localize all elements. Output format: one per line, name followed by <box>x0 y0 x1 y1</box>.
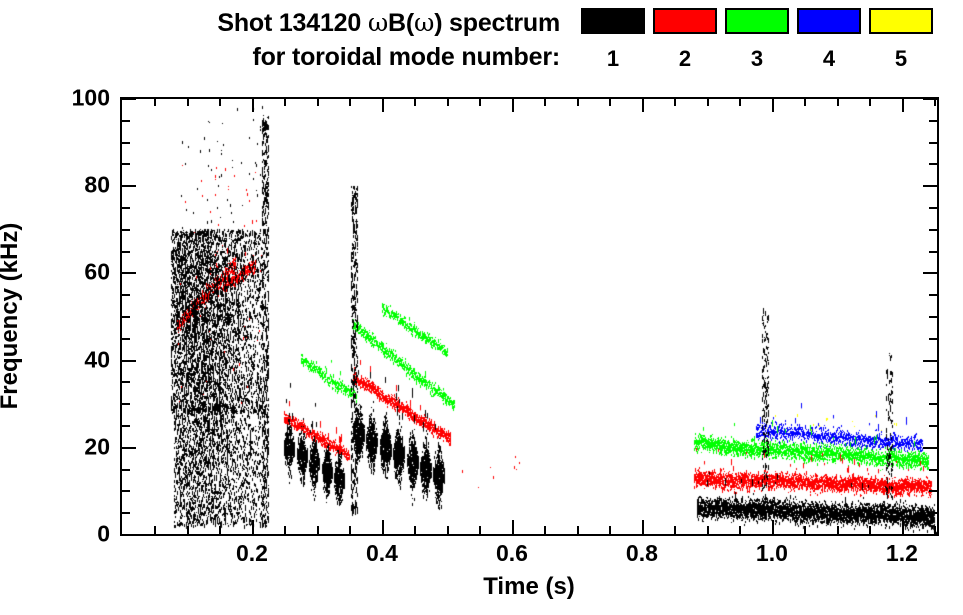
x-tick-minor <box>674 526 676 534</box>
x-tick-minor-top <box>577 98 579 106</box>
x-axis-title: Time (s) <box>483 573 575 601</box>
y-tick-major <box>122 534 136 536</box>
x-tick-minor <box>349 526 351 534</box>
x-tick-major <box>382 520 384 534</box>
top-frame-line <box>120 97 939 99</box>
x-tick-minor-top <box>479 98 481 106</box>
x-tick-minor-top <box>284 98 286 106</box>
x-tick-minor <box>739 526 741 534</box>
x-tick-minor-top <box>447 98 449 106</box>
omega-symbol-1: ω <box>368 8 388 37</box>
x-tick-major-top <box>382 98 384 112</box>
x-tick-minor <box>934 526 936 534</box>
y-tick-major-right <box>923 360 937 362</box>
y-tick-major-right <box>923 447 937 449</box>
x-tick-minor-top <box>154 98 156 106</box>
x-tick-minor-top <box>219 98 221 106</box>
y-tick-minor-right <box>929 316 937 318</box>
x-tick-major-top <box>252 98 254 112</box>
spectrogram-figure: Shot 134120 ωB(ω) spectrum for toroidal … <box>0 0 963 615</box>
spectrogram-canvas <box>122 98 937 534</box>
y-tick-major-right <box>923 185 937 187</box>
y-tick-label: 60 <box>30 259 110 286</box>
legend-swatch-mode-3 <box>725 8 789 34</box>
y-tick-label: 80 <box>30 172 110 199</box>
y-tick-minor <box>122 338 130 340</box>
y-tick-minor-right <box>929 207 937 209</box>
y-tick-major <box>122 185 136 187</box>
x-tick-minor-top <box>544 98 546 106</box>
y-tick-minor <box>122 425 130 427</box>
x-tick-minor-top <box>837 98 839 106</box>
y-tick-minor-right <box>929 490 937 492</box>
title-line-2: for toroidal mode number: <box>0 40 560 74</box>
title-line-1-prefix: Shot 134120 <box>217 9 367 37</box>
x-tick-label: 1.0 <box>756 540 788 567</box>
y-tick-minor <box>122 142 130 144</box>
x-tick-label: 0.4 <box>366 540 398 567</box>
x-tick-minor <box>187 526 189 534</box>
x-tick-minor-top <box>739 98 741 106</box>
y-tick-label: 0 <box>30 521 110 548</box>
omega-symbol-2: ω <box>414 8 434 37</box>
y-tick-major <box>122 447 136 449</box>
x-tick-minor <box>577 526 579 534</box>
x-tick-minor <box>609 526 611 534</box>
x-tick-major-top <box>902 98 904 112</box>
figure-title: Shot 134120 ωB(ω) spectrum for toroidal … <box>0 6 560 74</box>
legend-item-mode-4: 4 <box>797 8 861 72</box>
legend-swatch-mode-5 <box>869 8 933 34</box>
x-tick-minor <box>869 526 871 534</box>
y-tick-minor <box>122 251 130 253</box>
y-tick-minor-right <box>929 403 937 405</box>
y-tick-minor <box>122 469 130 471</box>
y-tick-minor-right <box>929 251 937 253</box>
title-line-1-suffix: ) spectrum <box>434 9 560 37</box>
legend-label-mode-5: 5 <box>869 46 933 72</box>
y-tick-minor <box>122 316 130 318</box>
y-tick-label: 40 <box>30 346 110 373</box>
y-tick-major-right <box>923 272 937 274</box>
y-tick-label: 100 <box>30 85 110 112</box>
x-tick-minor-top <box>349 98 351 106</box>
y-tick-minor <box>122 163 130 165</box>
y-tick-major-right <box>923 534 937 536</box>
x-tick-minor <box>154 526 156 534</box>
x-tick-label: 0.8 <box>626 540 658 567</box>
x-tick-minor <box>479 526 481 534</box>
x-tick-minor-top <box>317 98 319 106</box>
x-tick-minor-top <box>707 98 709 106</box>
legend-label-mode-3: 3 <box>725 46 789 72</box>
x-tick-major-top <box>772 98 774 112</box>
x-tick-minor <box>414 526 416 534</box>
x-tick-major <box>642 520 644 534</box>
legend-item-mode-1: 1 <box>581 8 645 72</box>
x-tick-minor <box>837 526 839 534</box>
x-tick-label: 1.2 <box>886 540 918 567</box>
y-tick-minor-right <box>929 338 937 340</box>
x-tick-minor <box>804 526 806 534</box>
y-axis-title: Frequency (kHz) <box>0 223 24 410</box>
x-tick-minor <box>707 526 709 534</box>
x-tick-major-top <box>512 98 514 112</box>
y-tick-major <box>122 272 136 274</box>
legend-item-mode-3: 3 <box>725 8 789 72</box>
x-tick-minor <box>219 526 221 534</box>
y-tick-minor-right <box>929 163 937 165</box>
x-tick-minor <box>544 526 546 534</box>
y-tick-minor-right <box>929 512 937 514</box>
x-tick-label: 0.2 <box>236 540 268 567</box>
y-tick-minor-right <box>929 294 937 296</box>
y-tick-minor-right <box>929 381 937 383</box>
plot-area <box>122 98 937 534</box>
y-tick-minor <box>122 490 130 492</box>
x-tick-minor <box>447 526 449 534</box>
y-tick-minor <box>122 294 130 296</box>
legend-swatch-mode-2 <box>653 8 717 34</box>
y-tick-minor <box>122 403 130 405</box>
x-tick-minor <box>317 526 319 534</box>
y-tick-major <box>122 98 136 100</box>
title-line-1-mid: B( <box>388 9 414 37</box>
legend-label-mode-1: 1 <box>581 46 645 72</box>
legend: 12345 <box>575 8 955 86</box>
x-tick-major <box>252 520 254 534</box>
y-tick-minor <box>122 229 130 231</box>
x-tick-major-top <box>642 98 644 112</box>
legend-item-mode-5: 5 <box>869 8 933 72</box>
x-tick-major <box>902 520 904 534</box>
y-tick-minor-right <box>929 469 937 471</box>
y-tick-minor-right <box>929 229 937 231</box>
right-frame-line <box>937 97 939 536</box>
x-tick-minor-top <box>804 98 806 106</box>
x-tick-minor-top <box>414 98 416 106</box>
y-tick-minor-right <box>929 120 937 122</box>
x-tick-minor <box>284 526 286 534</box>
y-tick-label: 20 <box>30 433 110 460</box>
title-line-1: Shot 134120 ωB(ω) spectrum <box>0 6 560 40</box>
y-tick-minor <box>122 120 130 122</box>
y-tick-minor-right <box>929 142 937 144</box>
y-tick-minor <box>122 512 130 514</box>
x-axis-line <box>120 534 939 536</box>
legend-swatch-mode-4 <box>797 8 861 34</box>
y-tick-minor <box>122 207 130 209</box>
y-tick-minor <box>122 381 130 383</box>
y-tick-minor-right <box>929 425 937 427</box>
x-tick-minor-top <box>869 98 871 106</box>
legend-label-mode-4: 4 <box>797 46 861 72</box>
x-tick-minor-top <box>609 98 611 106</box>
x-tick-major <box>772 520 774 534</box>
x-tick-minor-top <box>187 98 189 106</box>
y-tick-major <box>122 360 136 362</box>
x-tick-minor-top <box>674 98 676 106</box>
legend-swatch-mode-1 <box>581 8 645 34</box>
x-tick-label: 0.6 <box>496 540 528 567</box>
legend-label-mode-2: 2 <box>653 46 717 72</box>
y-tick-major-right <box>923 98 937 100</box>
x-tick-major <box>512 520 514 534</box>
legend-item-mode-2: 2 <box>653 8 717 72</box>
